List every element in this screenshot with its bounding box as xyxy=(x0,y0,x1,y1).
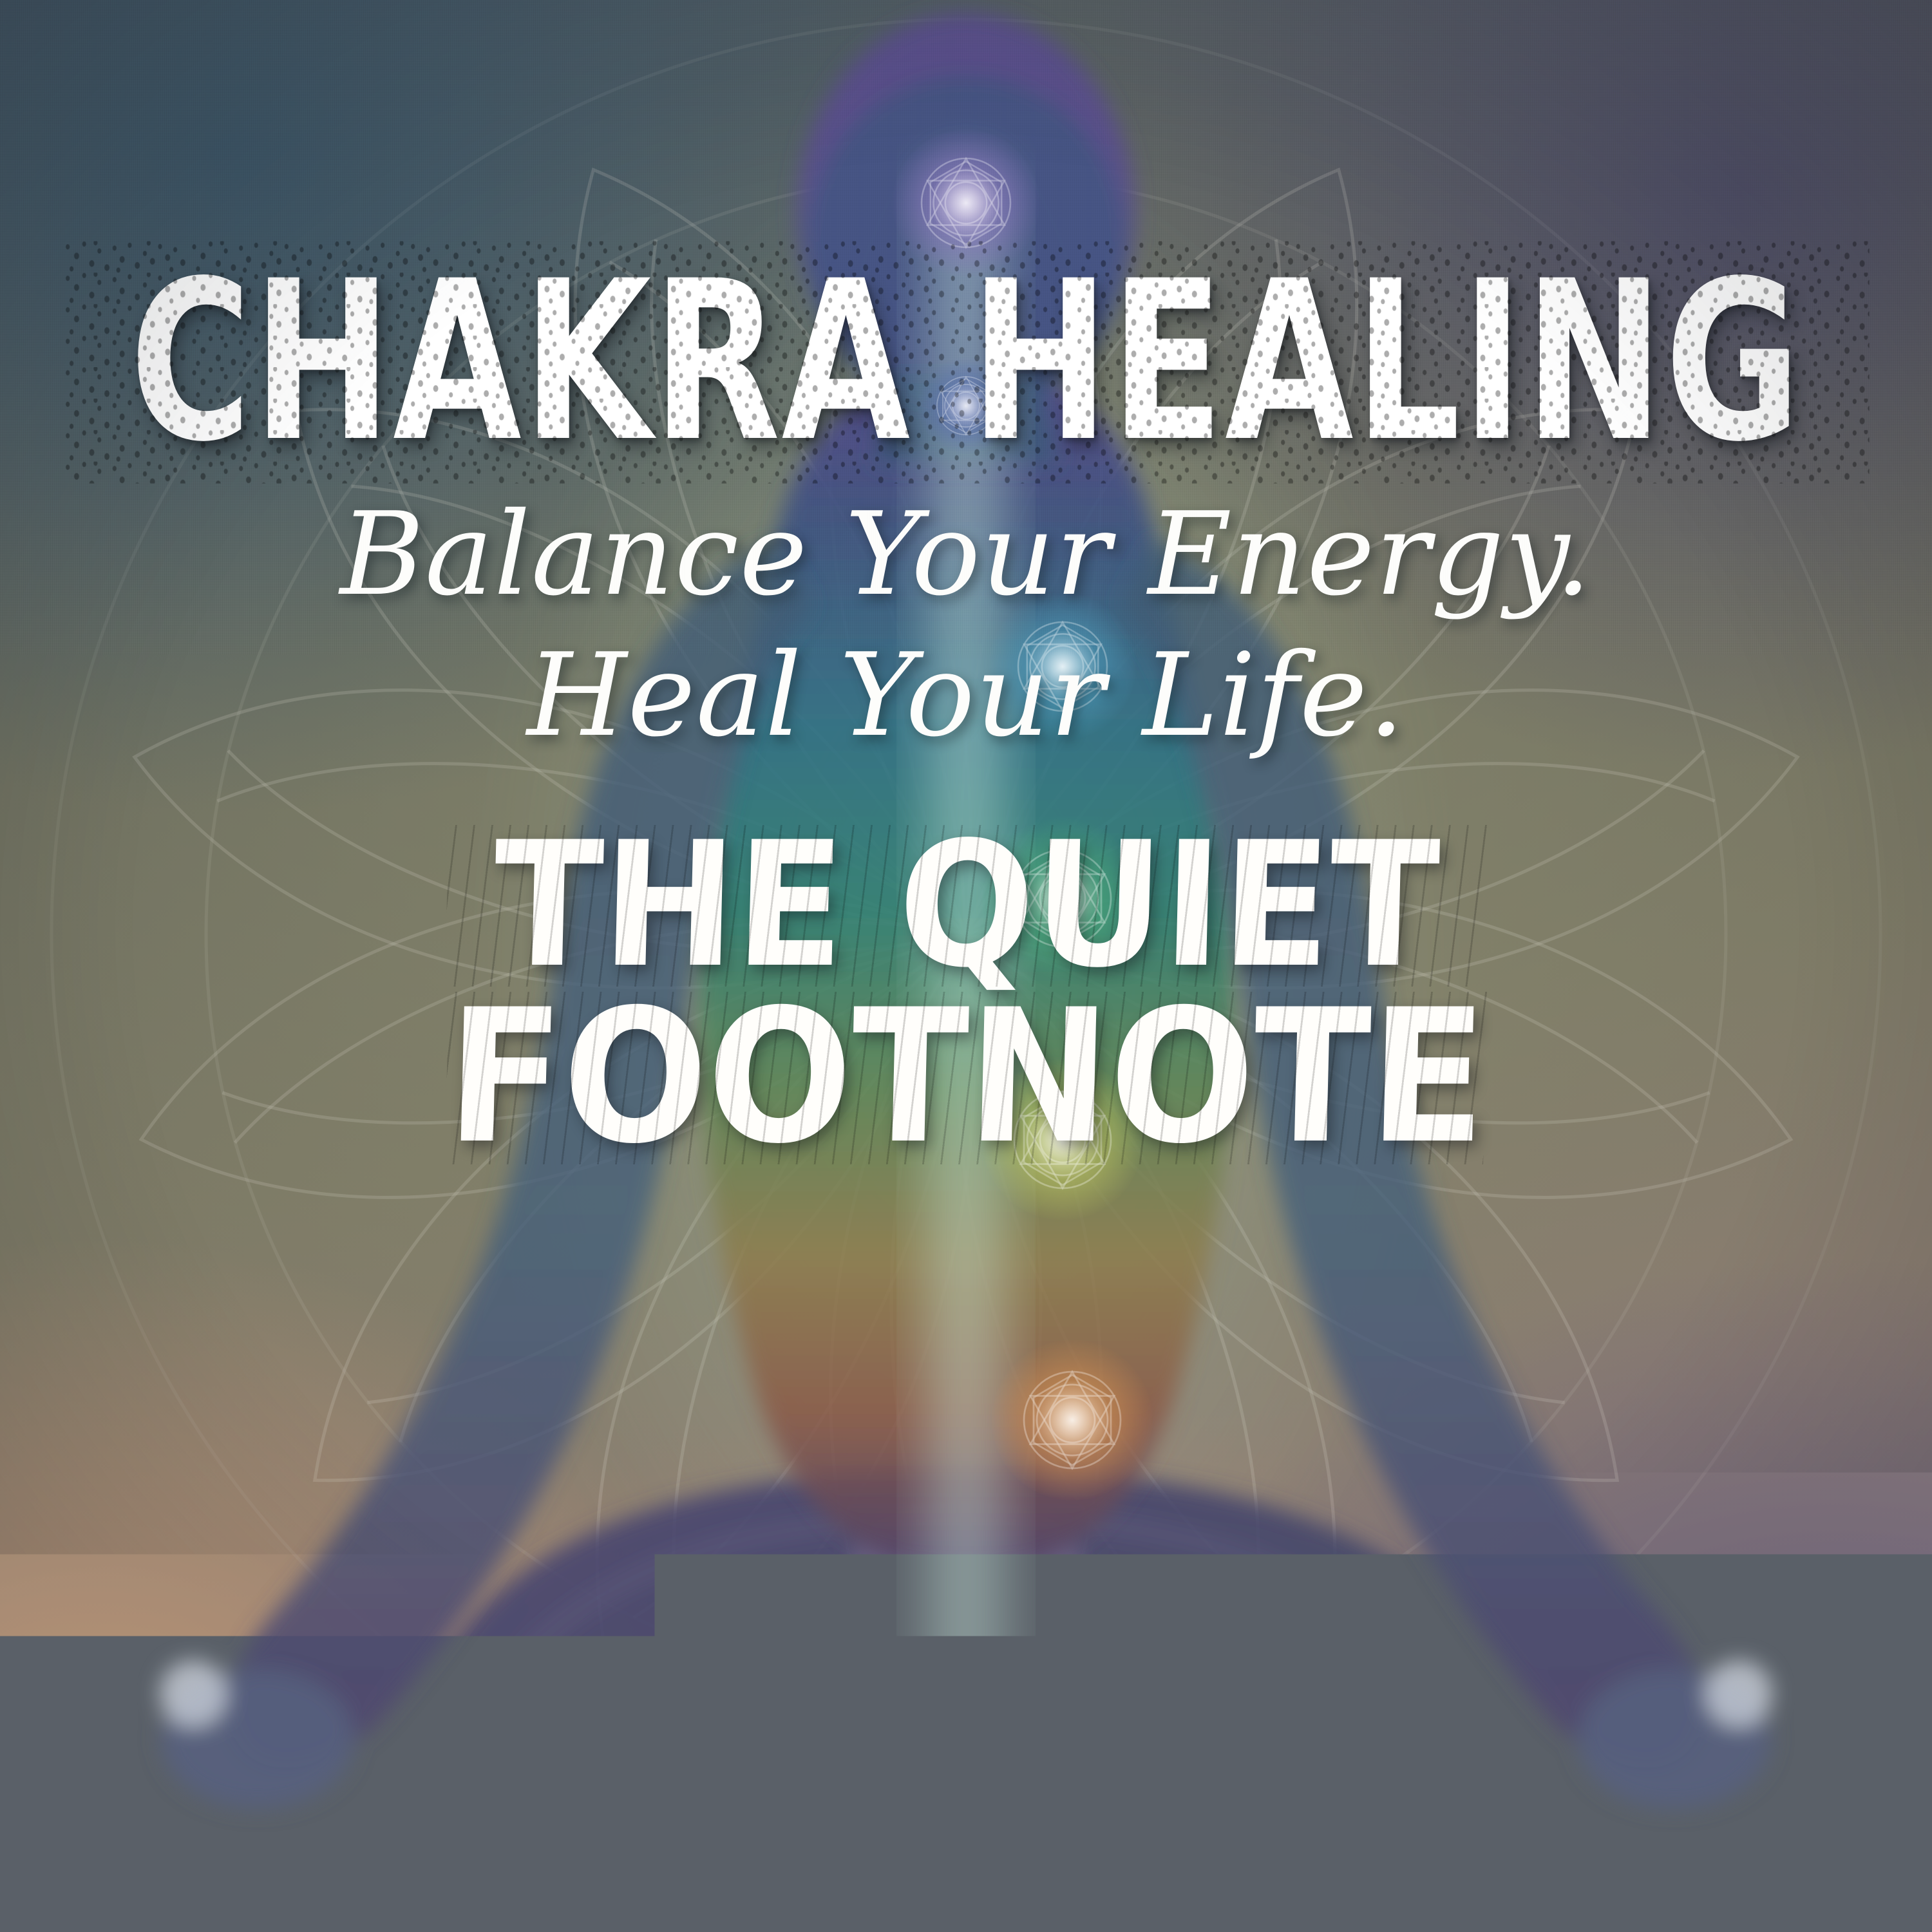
chakra-healing-poster: CHAKRA HEALING Balance Your Energy. Heal… xyxy=(0,0,1932,1932)
canvas-noise-overlay xyxy=(0,0,1932,1932)
